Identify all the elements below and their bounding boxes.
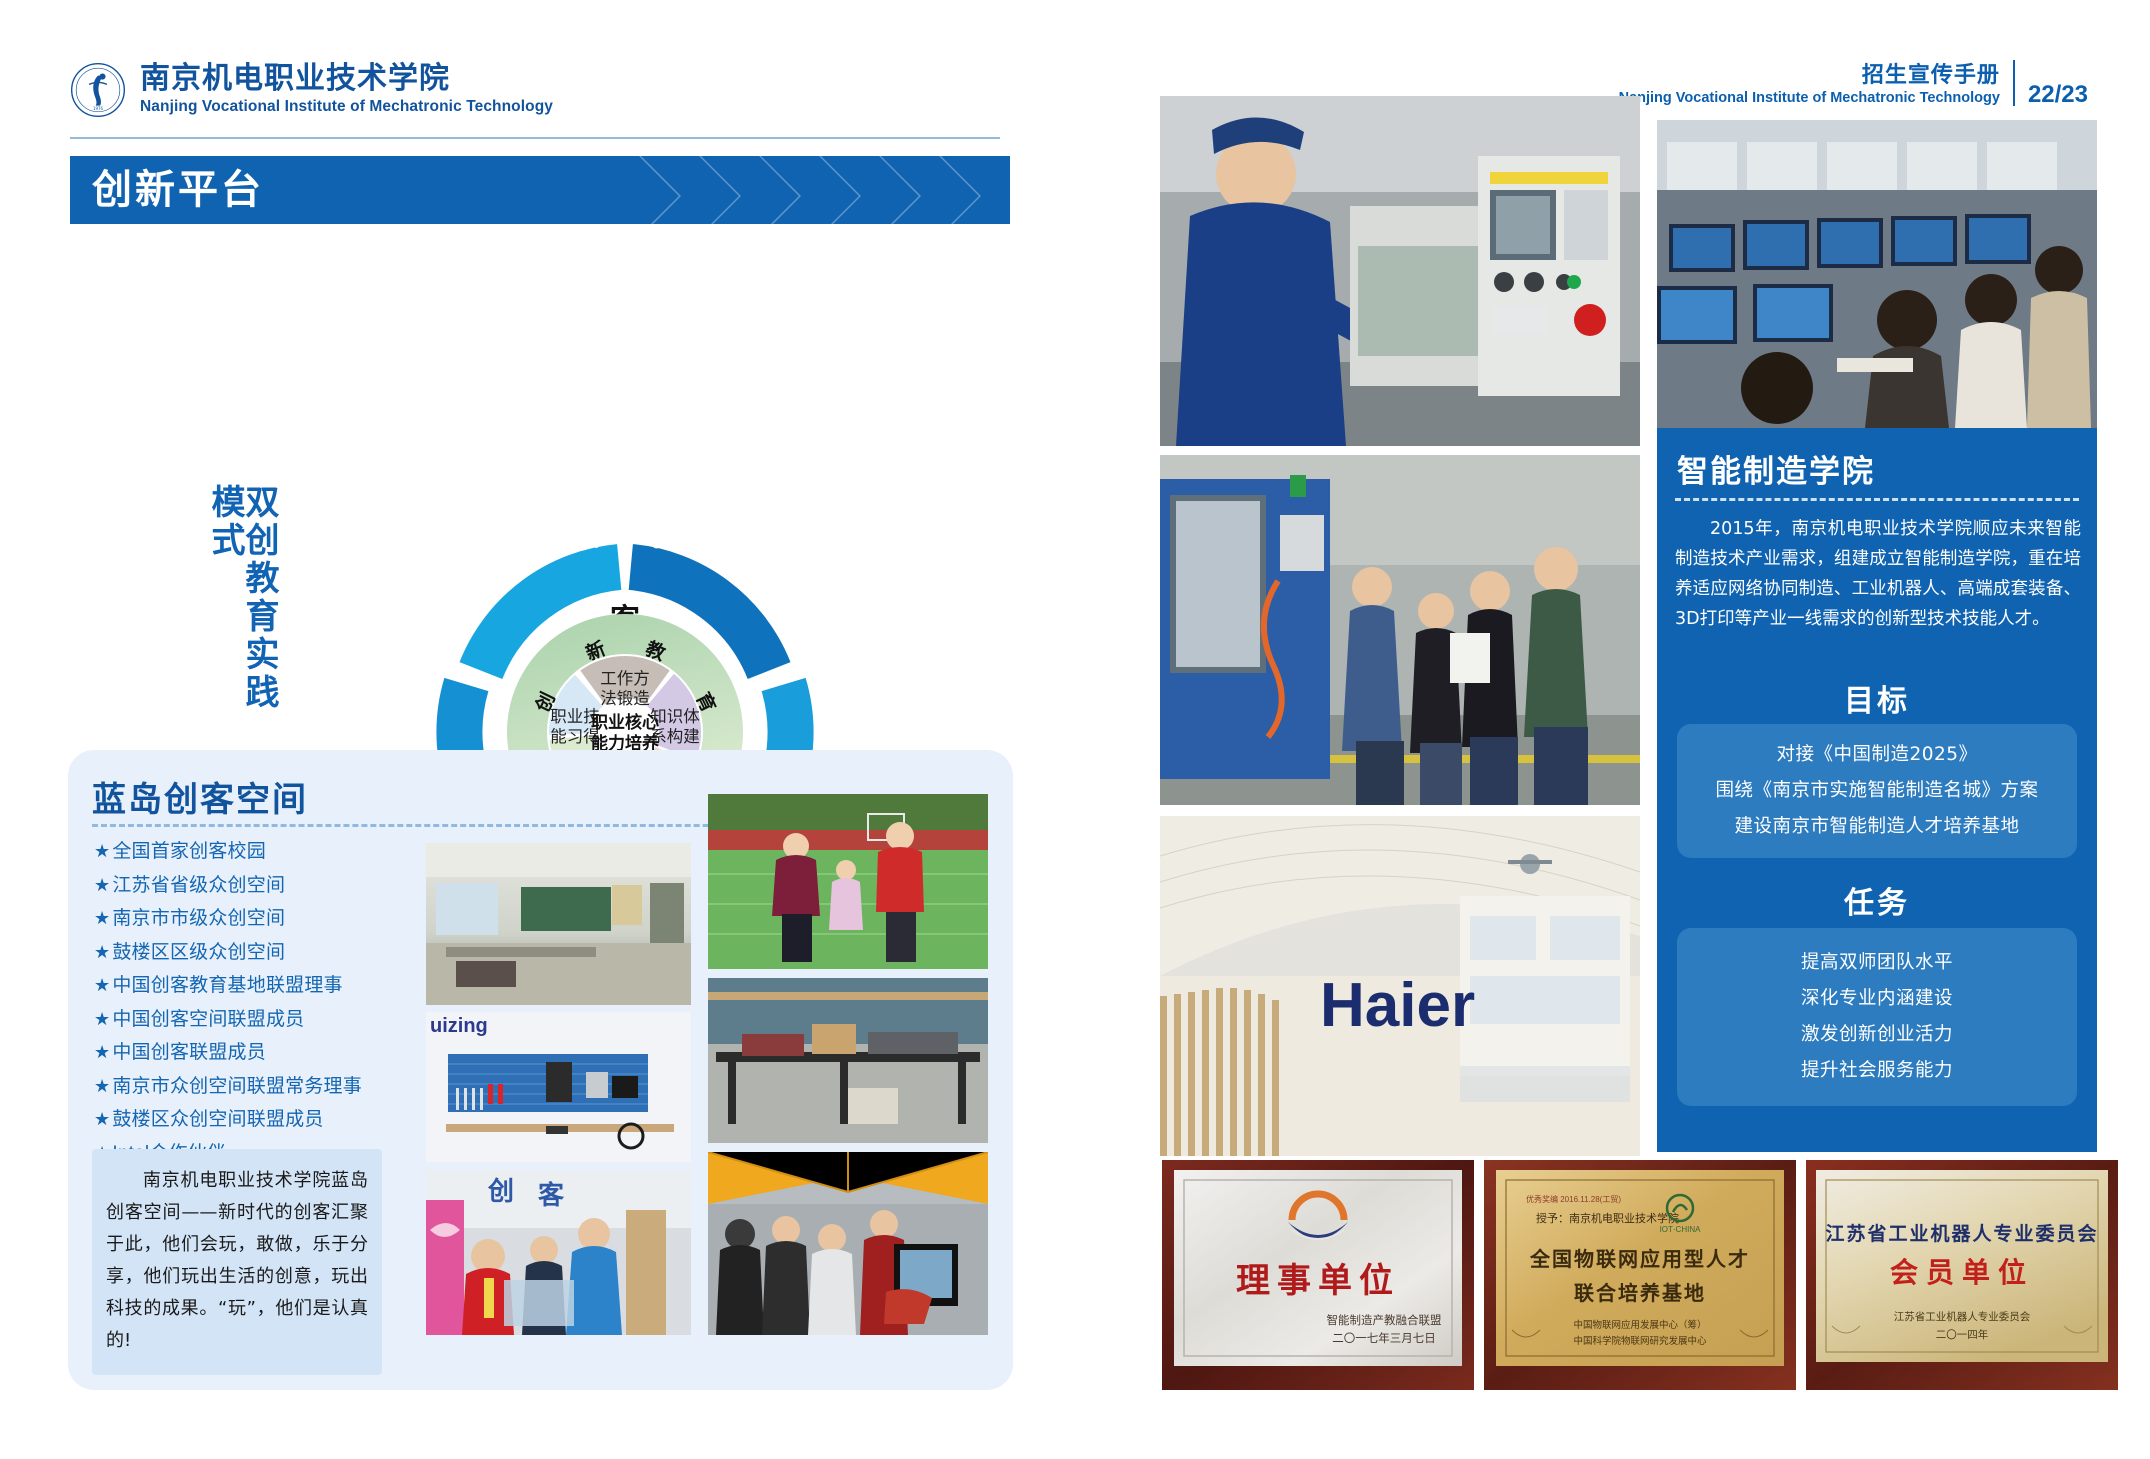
list-item: ★南京市众创空间联盟常务理事 xyxy=(94,1077,394,1096)
goal-item: 对接《中国制造2025》 xyxy=(1776,737,1977,773)
star-icon: ★ xyxy=(94,942,110,962)
plaque-award-to: 授予：南京机电职业技术学院 xyxy=(1536,1211,1679,1225)
svg-text:创: 创 xyxy=(487,1176,514,1206)
institute-seal-logo-icon: 1976 xyxy=(70,62,126,118)
list-item: ★中国创客联盟成员 xyxy=(94,1043,394,1062)
task-card: 提高双师团队水平 深化专业内涵建设 激发创新创业活力 提升社会服务能力 xyxy=(1677,928,2077,1106)
maker-space-description: 南京机电职业技术学院蓝岛创客空间——新时代的创客汇聚于此，他们会玩，敢做，乐于分… xyxy=(92,1149,382,1375)
plaque-badge: IOT·CHINA xyxy=(1660,1225,1702,1234)
svg-text:法锻造: 法锻造 xyxy=(600,689,650,708)
plaque-issuer: 智能制造产教融合联盟 xyxy=(1327,1313,1442,1327)
svg-text:工作方: 工作方 xyxy=(600,669,650,688)
robot-committee-member-plaque: 江苏省工业机器人专业委员会 会员单位 江苏省工业机器人专业委员会 二〇一四年 xyxy=(1806,1160,2118,1390)
list-item: ★江苏省省级众创空间 xyxy=(94,876,394,895)
maker-space-panel: 蓝岛创客空间 ★全国首家创客校园 ★江苏省省级众创空间 ★南京市市级众创空间 ★… xyxy=(68,750,1013,1390)
plaque-main-text: 理事单位 xyxy=(1236,1262,1400,1300)
plaque-issuer: 江苏省工业机器人专业委员会 xyxy=(1894,1310,2031,1323)
institute-branding: 1976 南京机电职业技术学院 Nanjing Vocational Insti… xyxy=(70,62,553,118)
task-item: 激发创新创业活力 xyxy=(1801,1017,1953,1053)
haier-logo-text: Haier xyxy=(1320,971,1475,1040)
smart-panel-title: 智能制造学院 xyxy=(1677,446,1875,491)
svg-text:优秀奖编 2016.11.28(工贸): 优秀奖编 2016.11.28(工贸) xyxy=(1526,1194,1621,1204)
maker-classroom-photo xyxy=(426,843,691,1005)
list-item: ★南京市市级众创空间 xyxy=(94,909,394,928)
institute-name-block: 南京机电职业技术学院 Nanjing Vocational Institute … xyxy=(140,63,553,118)
star-icon: ★ xyxy=(94,975,110,995)
list-item: ★中国创客空间联盟成员 xyxy=(94,1010,394,1029)
playground-family-photo xyxy=(708,794,988,969)
page-title: 创新平台 xyxy=(70,156,1010,224)
section-banner: 创新平台 xyxy=(70,156,1010,224)
tool-wall-photo: uizing xyxy=(426,1012,691,1162)
header-divider xyxy=(2013,60,2015,106)
plaque-issuer-2: 中国科学院物联网研究发展中心 xyxy=(1573,1335,1707,1347)
svg-text:uizing: uizing xyxy=(430,1015,488,1037)
star-icon: ★ xyxy=(94,875,110,895)
plaque-main-line2: 联合培养基地 xyxy=(1574,1281,1706,1305)
task-item: 提高双师团队水平 xyxy=(1801,945,1953,981)
smart-panel-description: 2015年，南京机电职业技术学院顺应未来智能制造技术产业需求，组建成立智能制造学… xyxy=(1675,514,2081,634)
iot-training-base-plaque: 优秀奖编 2016.11.28(工贸) 授予：南京机电职业技术学院 IOT·CH… xyxy=(1484,1160,1796,1390)
star-icon: ★ xyxy=(94,1109,110,1129)
computer-lab-photo xyxy=(1657,120,2097,428)
outdoor-display-table-photo xyxy=(708,978,988,1143)
list-item: ★鼓楼区区级众创空间 xyxy=(94,943,394,962)
goal-card: 对接《中国制造2025》 围绕《南京市实施智能制造名城》方案 建设南京市智能制造… xyxy=(1677,724,2077,858)
header-rule xyxy=(70,137,1000,139)
goal-heading: 目标 xyxy=(1657,676,2097,720)
exhibition-kids-photo: 创 客 xyxy=(426,1170,691,1335)
plaque-issuer-1: 中国物联网应用发展中心（筹） xyxy=(1573,1319,1706,1331)
plaque-main-line1: 全国物联网应用型人才 xyxy=(1529,1247,1750,1271)
plaque-main-text: 会员单位 xyxy=(1890,1256,2034,1288)
innovation-model-diagram: 双创教育实践模式 xyxy=(70,240,1010,740)
star-icon: ★ xyxy=(94,1076,110,1096)
svg-text:客: 客 xyxy=(538,1180,565,1210)
plaque-date: 二〇一七年三月七日 xyxy=(1332,1331,1436,1345)
institute-name-cn: 南京机电职业技术学院 xyxy=(140,63,553,95)
star-icon: ★ xyxy=(94,1009,110,1029)
haier-lobby-photo: Haier xyxy=(1160,816,1640,1156)
star-icon: ★ xyxy=(94,908,110,928)
brochure-title-cn: 招生宣传手册 xyxy=(1619,62,2000,87)
list-item: ★全国首家创客校园 xyxy=(94,842,394,861)
brochure-meta: 招生宣传手册 Nanjing Vocational Institute of M… xyxy=(1619,60,2088,108)
cnc-operator-photo xyxy=(1160,96,1640,446)
goal-item: 建设南京市智能制造人才培养基地 xyxy=(1734,809,2019,845)
task-item: 提升社会服务能力 xyxy=(1801,1053,1953,1089)
plaque-date: 二〇一四年 xyxy=(1936,1328,1989,1341)
smart-manufacturing-panel: 智能制造学院 2015年，南京机电职业技术学院顺应未来智能制造技术产业需求，组建… xyxy=(1657,428,2097,1152)
list-item: ★鼓楼区众创空间联盟成员 xyxy=(94,1110,394,1129)
institute-name-en: Nanjing Vocational Institute of Mechatro… xyxy=(140,97,553,117)
maker-space-title: 蓝岛创客空间 xyxy=(92,772,308,821)
machine-training-photo xyxy=(1160,455,1640,805)
brochure-title-en: Nanjing Vocational Institute of Mechatro… xyxy=(1619,89,2000,108)
task-item: 深化专业内涵建设 xyxy=(1801,981,1953,1017)
diagram-vertical-label: 双创教育实践模式 xyxy=(208,484,276,740)
page-number: 22/23 xyxy=(2028,83,2088,108)
tent-demo-photo xyxy=(708,1152,988,1335)
brochure-page: 1976 南京机电职业技术学院 Nanjing Vocational Insti… xyxy=(0,0,2150,1459)
svg-text:职业核心: 职业核心 xyxy=(591,712,659,732)
list-item: ★中国创客教育基地联盟理事 xyxy=(94,976,394,995)
council-member-plaque: 理事单位 智能制造产教融合联盟 二〇一七年三月七日 xyxy=(1162,1160,1474,1390)
goal-item: 围绕《南京市实施智能制造名城》方案 xyxy=(1715,773,2038,809)
star-icon: ★ xyxy=(94,1042,110,1062)
star-icon: ★ xyxy=(94,841,110,861)
smart-panel-divider xyxy=(1675,498,2079,501)
task-heading: 任务 xyxy=(1657,878,2097,922)
plaque-top-line: 江苏省工业机器人专业委员会 xyxy=(1825,1222,2098,1245)
svg-text:1976: 1976 xyxy=(93,106,103,111)
